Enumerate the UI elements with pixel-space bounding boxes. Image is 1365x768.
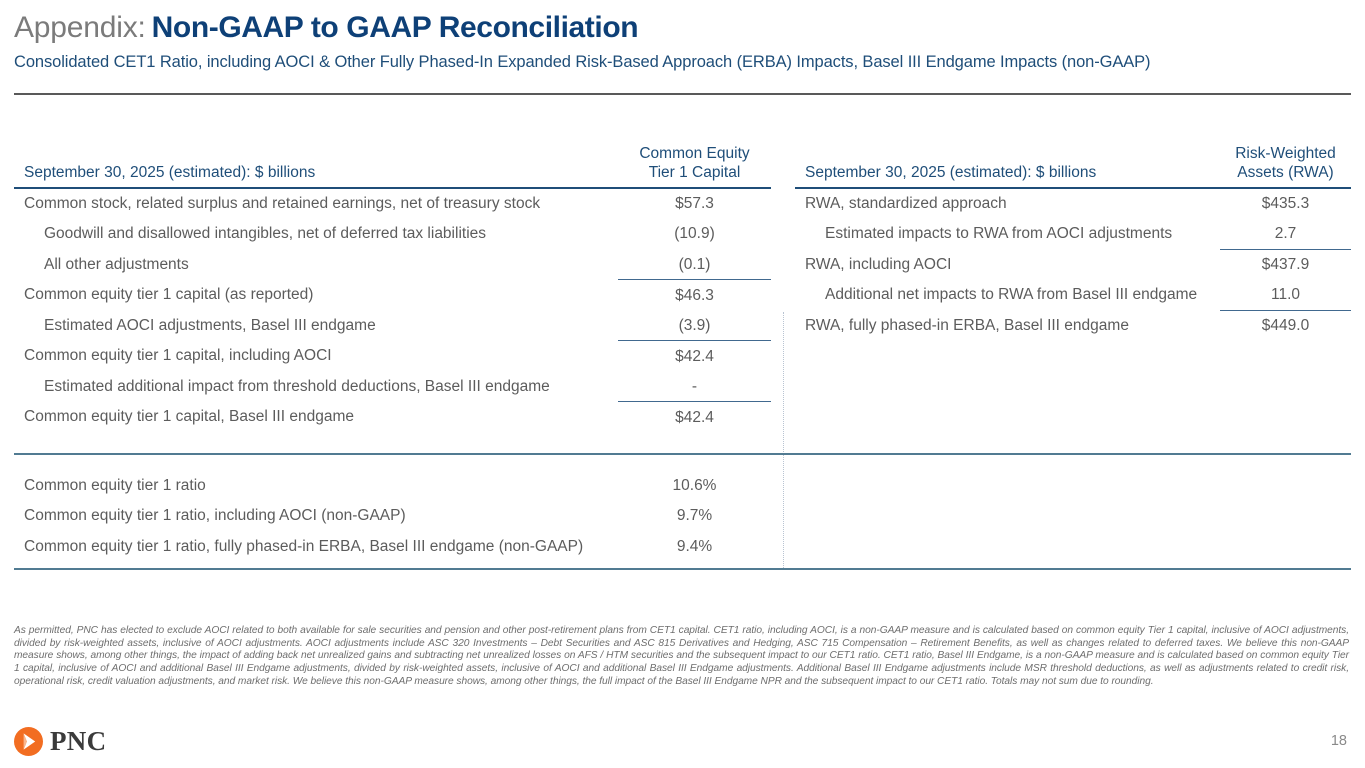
cet1-capital-panel: September 30, 2025 (estimated): $ billio…	[14, 130, 771, 432]
row-label: RWA, including AOCI	[795, 249, 1220, 280]
row-label: Common equity tier 1 capital (as reporte…	[14, 280, 618, 311]
column-header-period-right: September 30, 2025 (estimated): $ billio…	[795, 130, 1220, 188]
row-label: Common equity tier 1 capital, Basel III …	[14, 402, 618, 433]
row-label: Estimated impacts to RWA from AOCI adjus…	[795, 219, 1220, 250]
pnc-arrow-icon	[14, 727, 43, 756]
row-value: 11.0	[1220, 280, 1351, 311]
rwa-rows: RWA, standardized approach $435.3 Estima…	[795, 188, 1351, 341]
row-label: Goodwill and disallowed intangibles, net…	[14, 219, 618, 250]
column-header-line1: Risk-Weighted	[1220, 144, 1351, 163]
ratio-section-top-rule	[14, 453, 1351, 455]
row-label: All other adjustments	[14, 249, 618, 280]
row-value: $435.3	[1220, 188, 1351, 219]
page-title-prefix: Appendix:	[14, 11, 146, 44]
row-value: (10.9)	[618, 219, 771, 250]
row-label: Common stock, related surplus and retain…	[14, 188, 618, 219]
column-header-cet1-capital: Common Equity Tier 1 Capital	[618, 130, 771, 188]
cet1-capital-rows: Common stock, related surplus and retain…	[14, 188, 771, 432]
table-row: Estimated impacts to RWA from AOCI adjus…	[795, 219, 1351, 250]
table-header-row: September 30, 2025 (estimated): $ billio…	[795, 130, 1351, 188]
column-header-line2: Assets (RWA)	[1220, 163, 1351, 182]
row-value: (3.9)	[618, 310, 771, 341]
page-subtitle: Consolidated CET1 Ratio, including AOCI …	[14, 50, 1150, 74]
slide: Appendix:Non-GAAP to GAAP Reconciliation…	[0, 0, 1365, 768]
table-row: Common stock, related surplus and retain…	[14, 188, 771, 219]
table-row: Common equity tier 1 ratio 10.6%	[14, 470, 771, 501]
row-label: Common equity tier 1 ratio, including AO…	[14, 501, 618, 532]
table-row: RWA, fully phased-in ERBA, Basel III end…	[795, 310, 1351, 341]
table-row: Goodwill and disallowed intangibles, net…	[14, 219, 771, 250]
table-row: Common equity tier 1 capital, Basel III …	[14, 402, 771, 433]
header-divider	[14, 93, 1351, 95]
row-label: Common equity tier 1 ratio, fully phased…	[14, 531, 618, 562]
page-title-main: Non-GAAP to GAAP Reconciliation	[152, 11, 639, 44]
row-label: RWA, standardized approach	[795, 188, 1220, 219]
row-value: 2.7	[1220, 219, 1351, 250]
table-header-row: September 30, 2025 (estimated): $ billio…	[14, 130, 771, 188]
row-label: Estimated AOCI adjustments, Basel III en…	[14, 310, 618, 341]
table-row: Common equity tier 1 ratio, including AO…	[14, 501, 771, 532]
row-value: $437.9	[1220, 249, 1351, 280]
row-label: Estimated additional impact from thresho…	[14, 371, 618, 402]
page-title: Appendix:Non-GAAP to GAAP Reconciliation	[14, 8, 638, 48]
table-row: Common equity tier 1 ratio, fully phased…	[14, 531, 771, 562]
ratio-section-bottom-rule	[14, 568, 1351, 570]
row-label: RWA, fully phased-in ERBA, Basel III end…	[795, 310, 1220, 341]
row-value: $57.3	[618, 188, 771, 219]
column-header-line1: Common Equity	[618, 144, 771, 163]
table-row: Additional net impacts to RWA from Basel…	[795, 280, 1351, 311]
pnc-wordmark: PNC	[50, 727, 106, 756]
column-header-rwa: Risk-Weighted Assets (RWA)	[1220, 130, 1351, 188]
cet1-capital-table: September 30, 2025 (estimated): $ billio…	[14, 130, 771, 432]
table-row: Common equity tier 1 capital (as reporte…	[14, 280, 771, 311]
pnc-logo: PNC	[14, 727, 106, 756]
row-value: $449.0	[1220, 310, 1351, 341]
row-value: (0.1)	[618, 249, 771, 280]
page-number: 18	[1331, 733, 1347, 749]
table-row: RWA, including AOCI $437.9	[795, 249, 1351, 280]
column-header-line2: Tier 1 Capital	[618, 163, 771, 182]
row-label: Common equity tier 1 ratio	[14, 470, 618, 501]
column-header-period-left: September 30, 2025 (estimated): $ billio…	[14, 130, 618, 188]
row-value: 10.6%	[618, 470, 771, 501]
panel-divider	[783, 312, 784, 568]
row-value: 9.7%	[618, 501, 771, 532]
rwa-table: September 30, 2025 (estimated): $ billio…	[795, 130, 1351, 341]
ratio-section: Common equity tier 1 ratio 10.6% Common …	[14, 470, 771, 562]
table-row: RWA, standardized approach $435.3	[795, 188, 1351, 219]
ratio-table: Common equity tier 1 ratio 10.6% Common …	[14, 470, 771, 562]
table-row: All other adjustments (0.1)	[14, 249, 771, 280]
row-value: $42.4	[618, 402, 771, 433]
rwa-panel: September 30, 2025 (estimated): $ billio…	[795, 130, 1351, 341]
table-row: Estimated additional impact from thresho…	[14, 371, 771, 402]
row-label: Additional net impacts to RWA from Basel…	[795, 280, 1220, 311]
row-value: $42.4	[618, 341, 771, 372]
row-value: -	[618, 371, 771, 402]
footnote-text: As permitted, PNC has elected to exclude…	[14, 625, 1349, 689]
row-value: 9.4%	[618, 531, 771, 562]
table-row: Common equity tier 1 capital, including …	[14, 341, 771, 372]
row-value: $46.3	[618, 280, 771, 311]
table-row: Estimated AOCI adjustments, Basel III en…	[14, 310, 771, 341]
row-label: Common equity tier 1 capital, including …	[14, 341, 618, 372]
